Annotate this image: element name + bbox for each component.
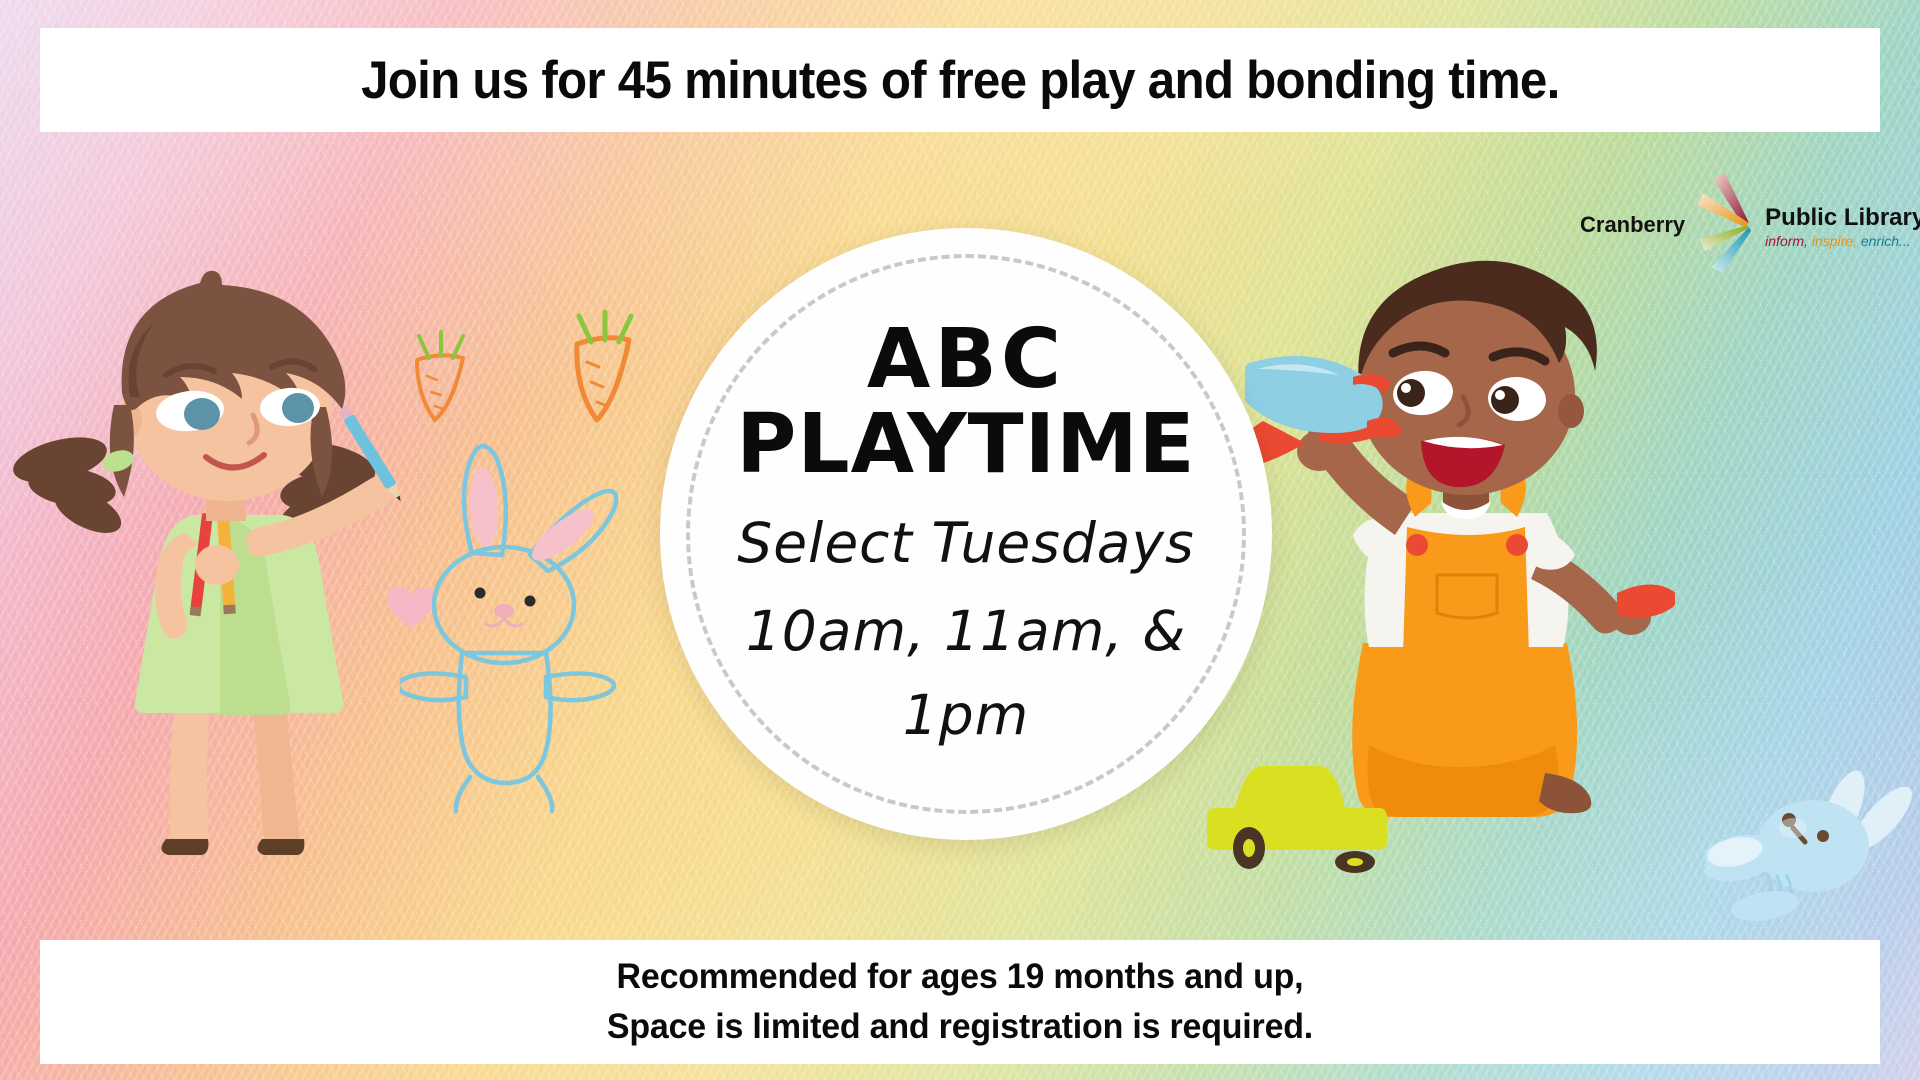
logo-tagline: inform, inspire, enrich... — [1765, 233, 1920, 249]
event-times-line-1: 10am, 11am, & — [660, 599, 1272, 663]
logo-word-cranberry: Cranberry — [1580, 212, 1685, 238]
logo-word-public-library: Public Library — [1765, 204, 1920, 232]
logo-fan-icon — [1685, 171, 1765, 276]
bottom-banner-line-1: Recommended for ages 19 months and up, — [607, 952, 1313, 1002]
main-info-circle: ABC PLAYTIME Select Tuesdays 10am, 11am,… — [660, 228, 1272, 840]
event-title-line-2: PLAYTIME — [660, 406, 1272, 485]
event-times-line-2: 1pm — [660, 683, 1272, 747]
carrot-doodle-small — [395, 330, 485, 430]
toy-car — [1205, 750, 1395, 880]
event-title-line-1: ABC — [660, 321, 1272, 400]
event-schedule-days: Select Tuesdays — [660, 511, 1272, 575]
girl-illustration — [10, 215, 430, 905]
library-logo: Cranberry Public Libr — [1580, 168, 1920, 278]
logo-tagline-enrich: enrich... — [1861, 233, 1911, 249]
top-banner: Join us for 45 minutes of free play and … — [40, 28, 1880, 132]
bunny-crayon-doodle — [400, 425, 635, 815]
carrot-doodle-large — [555, 310, 650, 435]
bottom-banner-line-2: Space is limited and registration is req… — [607, 1002, 1313, 1052]
logo-tagline-inform: inform, — [1765, 233, 1808, 249]
top-banner-text: Join us for 45 minutes of free play and … — [361, 50, 1559, 111]
poster-canvas: ABC PLAYTIME Select Tuesdays 10am, 11am,… — [0, 0, 1920, 1080]
plush-bunny — [1705, 770, 1920, 925]
bottom-banner: Recommended for ages 19 months and up, S… — [40, 940, 1880, 1064]
logo-tagline-inspire: inspire, — [1812, 233, 1857, 249]
